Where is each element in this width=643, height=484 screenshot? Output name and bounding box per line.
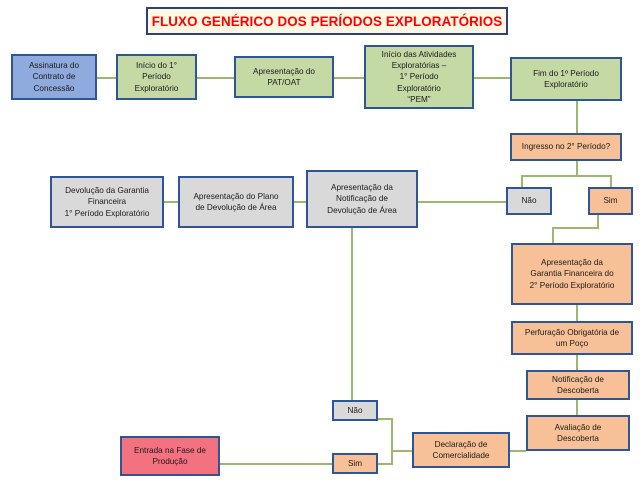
node-descoberta-sim[interactable]: Sim: [332, 453, 378, 474]
node-plano-devolucao-area[interactable]: Apresentação do Plano de Devolução de Ár…: [178, 176, 294, 228]
connector-garantia-to-perfuracao: [576, 305, 578, 321]
connector-perfuracao-to-notif: [576, 355, 578, 370]
node-devolucao-garantia[interactable]: Devolução da Garantia Financeira 1° Perí…: [50, 176, 164, 228]
connector-notif-to-avaliacao: [576, 399, 578, 415]
flowchart-canvas: FLUXO GENÉRICO DOS PERÍODOS EXPLORATÓRIO…: [0, 0, 643, 484]
node-garantia-financeira-2[interactable]: Apresentação da Garantia Financeira do 2…: [511, 243, 633, 305]
node-avaliacao-descoberta[interactable]: Avaliação de Descoberta: [526, 415, 630, 451]
node-ingresso-sim[interactable]: Sim: [588, 187, 633, 215]
connector-inicio1-to-pat: [197, 77, 235, 79]
node-entrada-fase-producao[interactable]: Entrada na Fase de Produção: [120, 436, 220, 476]
node-declaracao-comercialidade[interactable]: Declaração de Comercialidade: [412, 432, 510, 468]
node-descoberta-nao[interactable]: Não: [332, 400, 378, 421]
connector-ingresso-split: [521, 175, 612, 177]
connector-atividades-to-fim1: [473, 77, 511, 79]
node-inicio-1-periodo[interactable]: Início do 1° Período Exploratório: [116, 54, 197, 100]
connector-sim-to-producao: [219, 463, 332, 465]
connector-nao-to-notificacao-area: [417, 201, 507, 203]
connector-ingresso-to-nao: [521, 175, 523, 187]
node-assinatura-contrato[interactable]: Assinatura do Contrato de Concessão: [11, 54, 97, 100]
node-ingresso-nao[interactable]: Não: [506, 187, 552, 215]
node-notificacao-descoberta[interactable]: Notificação de Descoberta: [526, 370, 630, 400]
connector-sim-to-garantia-h: [552, 227, 599, 229]
connector-devolucao-to-plano: [163, 201, 179, 203]
node-fim-1-periodo[interactable]: Fim do 1º Período Exploratório: [510, 57, 622, 101]
node-apresentacao-pat-oat[interactable]: Apresentação do PAT/OAT: [234, 56, 334, 98]
connector-ingresso-stem: [576, 161, 578, 175]
connector-ingresso-to-sim: [610, 175, 612, 187]
connector-plano-to-notifarea: [293, 201, 307, 203]
node-perfuracao-poco[interactable]: Perfuração Obrigatória de um Poço: [511, 321, 633, 355]
node-ingresso-2-periodo[interactable]: Ingresso no 2° Período?: [510, 133, 622, 161]
connector-sim-to-garantia-v: [552, 227, 554, 243]
page-title: FLUXO GENÉRICO DOS PERÍODOS EXPLORATÓRIO…: [146, 7, 508, 35]
page-title-text: FLUXO GENÉRICO DOS PERÍODOS EXPLORATÓRIO…: [152, 14, 503, 29]
connector-notifarea-to-nao: [351, 228, 353, 400]
node-inicio-atividades[interactable]: Início das Atividades Exploratórias – 1°…: [364, 45, 474, 109]
connector-fim1-to-ingresso: [576, 101, 578, 133]
connector-bottom-junction: [391, 418, 393, 463]
connector-sim-down: [597, 215, 599, 227]
node-notificacao-devolucao-area[interactable]: Apresentação da Notificação de Devolução…: [306, 170, 418, 228]
connector-pat-to-atividades: [333, 77, 365, 79]
